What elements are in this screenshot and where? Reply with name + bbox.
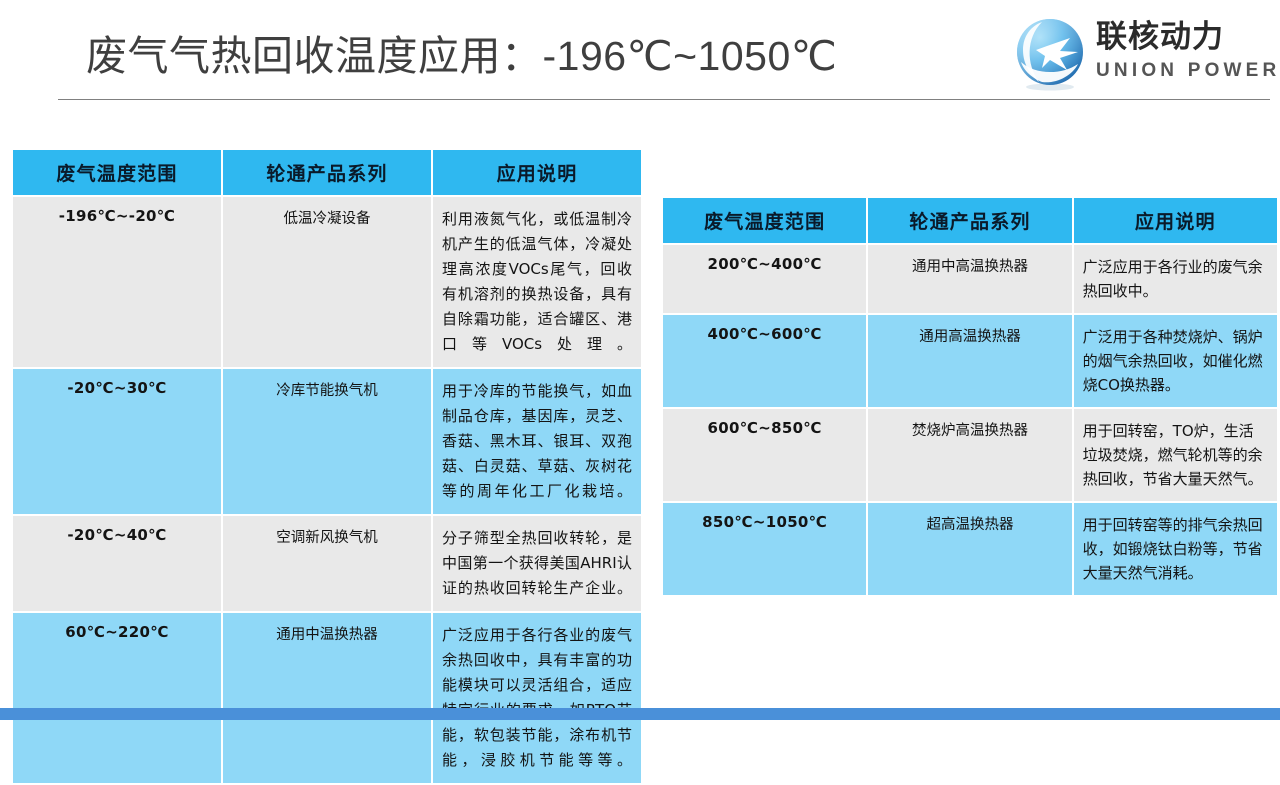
col-header-temperature-range: 废气温度范围 xyxy=(663,198,866,243)
cell-product-series: 超高温换热器 xyxy=(868,503,1071,595)
cell-application-description: 广泛用于各种焚烧炉、锅炉的烟气余热回收，如催化燃烧CO换热器。 xyxy=(1074,315,1277,407)
cell-application-description: 用于冷库的节能换气，如血制品仓库，基因库，灵芝、香菇、黑木耳、银耳、双孢菇、白灵… xyxy=(433,369,641,514)
cell-product-series: 空调新风换气机 xyxy=(223,516,431,611)
cell-temperature-range: -20℃~30℃ xyxy=(13,369,221,514)
table-row: 400℃~600℃ 通用高温换热器 广泛用于各种焚烧炉、锅炉的烟气余热回收，如催… xyxy=(663,315,1277,407)
temperature-application-table-right: 废气温度范围 轮通产品系列 应用说明 200℃~400℃ 通用中高温换热器 广泛… xyxy=(661,196,1279,597)
company-logo: 联核动力 UNION POWER xyxy=(1012,14,1274,94)
cell-product-series: 通用中温换热器 xyxy=(223,613,431,783)
table-row: 200℃~400℃ 通用中高温换热器 广泛应用于各行业的废气余热回收中。 xyxy=(663,245,1277,313)
table-left-header: 废气温度范围 轮通产品系列 应用说明 xyxy=(13,150,641,195)
table-row: -196℃~-20℃ 低温冷凝设备 利用液氮气化，或低温制冷机产生的低温气体，冷… xyxy=(13,197,641,367)
page-title: 废气气热回收温度应用：-196℃~1050℃ xyxy=(86,28,837,84)
union-power-sphere-icon xyxy=(1012,16,1088,92)
temperature-application-table-left: 废气温度范围 轮通产品系列 应用说明 -196℃~-20℃ 低温冷凝设备 利用液… xyxy=(11,148,643,785)
cell-product-series: 冷库节能换气机 xyxy=(223,369,431,514)
logo-wordmark: 联核动力 UNION POWER xyxy=(1096,18,1276,84)
cell-product-series: 焚烧炉高温换热器 xyxy=(868,409,1071,501)
cell-temperature-range: -20℃~40℃ xyxy=(13,516,221,611)
title-divider xyxy=(58,99,1270,100)
table-left-body: -196℃~-20℃ 低温冷凝设备 利用液氮气化，或低温制冷机产生的低温气体，冷… xyxy=(13,197,641,783)
cell-product-series: 通用中高温换热器 xyxy=(868,245,1071,313)
col-header-application-notes: 应用说明 xyxy=(433,150,641,195)
cell-product-series: 通用高温换热器 xyxy=(868,315,1071,407)
table-right-header: 废气温度范围 轮通产品系列 应用说明 xyxy=(663,198,1277,243)
table-row: 60℃~220℃ 通用中温换热器 广泛应用于各行各业的废气余热回收中，具有丰富的… xyxy=(13,613,641,783)
slide-header: 废气气热回收温度应用：-196℃~1050℃ xyxy=(0,0,1280,104)
cell-temperature-range: 400℃~600℃ xyxy=(663,315,866,407)
logo-name-en: UNION POWER xyxy=(1096,58,1276,84)
cell-product-series: 低温冷凝设备 xyxy=(223,197,431,367)
table-row: 600℃~850℃ 焚烧炉高温换热器 用于回转窑，TO炉，生活垃圾焚烧，燃气轮机… xyxy=(663,409,1277,501)
table-row: 850℃~1050℃ 超高温换热器 用于回转窑等的排气余热回收，如锻烧钛白粉等，… xyxy=(663,503,1277,595)
table-header-row: 废气温度范围 轮通产品系列 应用说明 xyxy=(13,150,641,195)
cell-application-description: 用于回转窑等的排气余热回收，如锻烧钛白粉等，节省大量天然气消耗。 xyxy=(1074,503,1277,595)
col-header-temperature-range: 废气温度范围 xyxy=(13,150,221,195)
cell-temperature-range: 600℃~850℃ xyxy=(663,409,866,501)
logo-name-cn: 联核动力 xyxy=(1096,18,1276,56)
cell-temperature-range: 850℃~1050℃ xyxy=(663,503,866,595)
col-header-application-notes: 应用说明 xyxy=(1074,198,1277,243)
table-row: -20℃~40℃ 空调新风换气机 分子筛型全热回收转轮，是中国第一个获得美国AH… xyxy=(13,516,641,611)
cell-application-description: 广泛应用于各行各业的废气余热回收中，具有丰富的功能模块可以灵活组合，适应特定行业… xyxy=(433,613,641,783)
cell-application-description: 广泛应用于各行业的废气余热回收中。 xyxy=(1074,245,1277,313)
cell-application-description: 用于回转窑，TO炉，生活垃圾焚烧，燃气轮机等的余热回收，节省大量天然气。 xyxy=(1074,409,1277,501)
table-row: -20℃~30℃ 冷库节能换气机 用于冷库的节能换气，如血制品仓库，基因库，灵芝… xyxy=(13,369,641,514)
col-header-product-series: 轮通产品系列 xyxy=(223,150,431,195)
cell-temperature-range: -196℃~-20℃ xyxy=(13,197,221,367)
table-right-body: 200℃~400℃ 通用中高温换热器 广泛应用于各行业的废气余热回收中。 400… xyxy=(663,245,1277,595)
cell-temperature-range: 200℃~400℃ xyxy=(663,245,866,313)
footer-accent-bar xyxy=(0,708,1280,720)
col-header-product-series: 轮通产品系列 xyxy=(868,198,1071,243)
cell-application-description: 利用液氮气化，或低温制冷机产生的低温气体，冷凝处理高浓度VOCs尾气，回收有机溶… xyxy=(433,197,641,367)
cell-application-description: 分子筛型全热回收转轮，是中国第一个获得美国AHRI认证的热收回转轮生产企业。 xyxy=(433,516,641,611)
cell-temperature-range: 60℃~220℃ xyxy=(13,613,221,783)
table-header-row: 废气温度范围 轮通产品系列 应用说明 xyxy=(663,198,1277,243)
